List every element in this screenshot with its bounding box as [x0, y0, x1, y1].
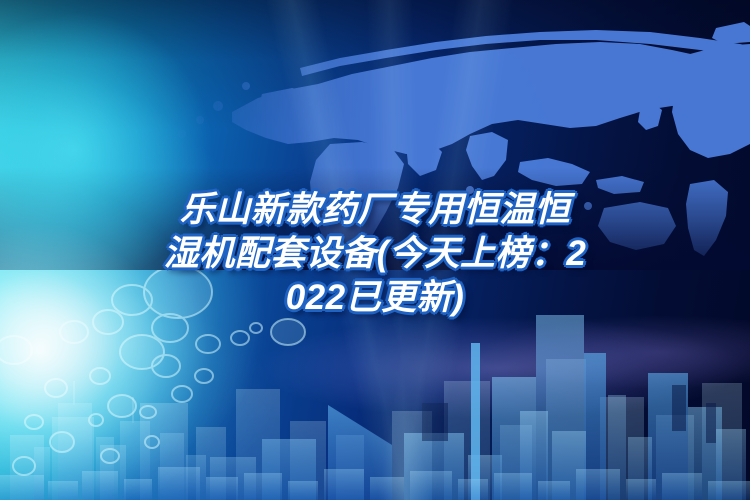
title-line-1: 乐山新款药厂专用恒温恒: [8, 188, 742, 232]
banner-title: 乐山新款药厂专用恒温恒 湿机配套设备(今天上榜：2 022已更新): [0, 188, 750, 320]
title-line-2: 湿机配套设备(今天上榜：2: [8, 232, 742, 276]
title-line-3: 022已更新): [8, 276, 742, 320]
banner-image: 乐山新款药厂专用恒温恒 湿机配套设备(今天上榜：2 022已更新): [0, 0, 750, 500]
